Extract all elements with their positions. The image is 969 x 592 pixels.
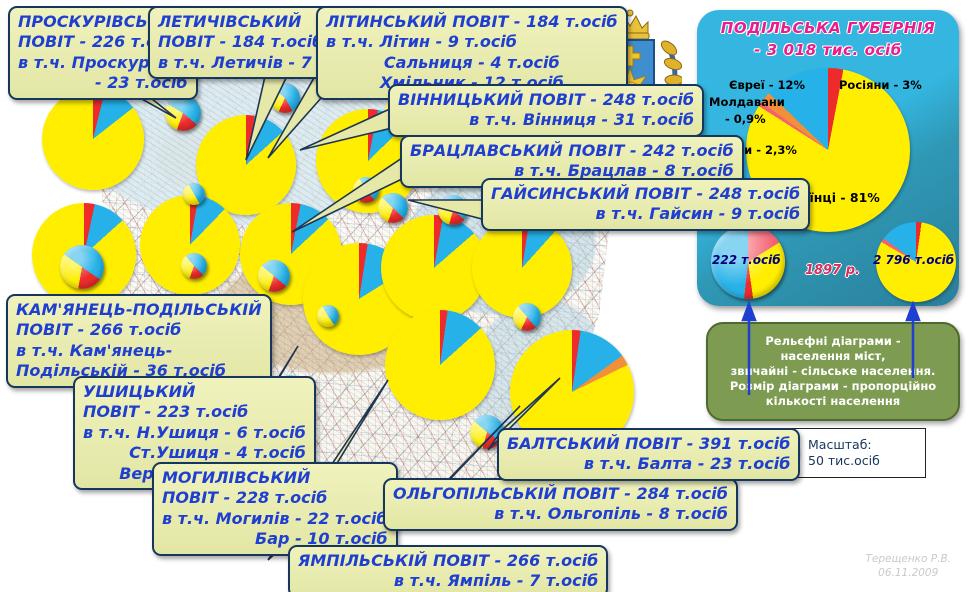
- town-pie-kamianets: [60, 245, 104, 289]
- label-moldovans-line2: - 0,9%: [725, 112, 766, 126]
- callout-line: ОЛЬГОПІЛЬСЬКІЙ ПОВІТ - 284 т.осіб: [393, 484, 728, 504]
- town-pie-proskuriv: [165, 95, 201, 131]
- label-russians: Росіяни - 3%: [839, 78, 922, 92]
- town-pie-ushytsia-lower: [181, 253, 207, 279]
- callout-haisyn[interactable]: ГАЙСИНСЬКИЙ ПОВІТ - 248 т.осіб в т.ч. Га…: [481, 178, 810, 231]
- callout-yampil[interactable]: ЯМПІЛЬСЬКІЙ ПОВІТ - 266 т.осіб в т.ч. Ям…: [288, 545, 608, 592]
- callout-line: в т.ч. Вінниця - 31 т.осіб: [398, 110, 694, 130]
- scale-line-2: 50 тис.осіб: [808, 453, 880, 469]
- callout-mohyliv[interactable]: МОГИЛІВСЬКИЙ ПОВІТ - 228 т.осіб в т.ч. М…: [152, 462, 398, 556]
- county-pie-olhopil-rural: [385, 310, 495, 420]
- town-pie-haisyn: [438, 195, 468, 225]
- callout-line: ВІННИЦЬКИЙ ПОВІТ - 248 т.осіб: [398, 90, 694, 110]
- legend-note-text: Рельєфні діаграми - населення міст, звич…: [730, 334, 936, 410]
- label-jews: Євреї - 12%: [729, 78, 805, 92]
- callout-line: ПОВІТ - 223 т.осіб: [83, 402, 306, 422]
- callout-line: в т.ч. Ямпіль - 7 т.осіб: [298, 571, 598, 591]
- note-line: населення міст,: [730, 349, 936, 364]
- legend-note-box: Рельєфні діаграми - населення міст, звич…: [706, 322, 960, 421]
- callout-line: в т.ч. Могилів - 22 т.осіб: [162, 509, 388, 529]
- year-label: 1897 р.: [805, 263, 860, 278]
- callout-line: МОГИЛІВСЬКИЙ: [162, 468, 388, 488]
- urban-population-label: 222 т.осіб: [712, 253, 781, 267]
- author-date: 06.11.2009: [865, 566, 951, 580]
- callout-line: в т.ч. Ольгопіль - 8 т.осіб: [393, 504, 728, 524]
- note-line: кількості населення: [730, 394, 936, 409]
- callout-line: БРАЦЛАВСЬКИЙ ПОВІТ - 242 т.осіб: [410, 141, 734, 161]
- panel-title: ПОДІЛЬСЬКА ГУБЕРНІЯ - 3 018 тис. осіб: [697, 18, 959, 62]
- callout-line: Сальниця - 4 т.осіб: [326, 53, 618, 73]
- callout-line: Ст.Ушиця - 4 т.осіб: [83, 443, 306, 463]
- town-pie-bar: [317, 305, 339, 327]
- callout-line: в т.ч. Літин - 9 т.осіб: [326, 32, 618, 52]
- callout-line: ПОВІТ - 266 т.осіб: [16, 320, 262, 340]
- callout-line: в т.ч. Балта - 23 т.осіб: [507, 454, 790, 474]
- town-pie-mohyliv: [258, 260, 290, 292]
- callout-line: в т.ч. Гайсин - 9 т.осіб: [491, 204, 800, 224]
- scale-legend-text: Масштаб: 50 тис.осіб: [808, 437, 880, 468]
- town-pie-bratslav: [378, 193, 408, 223]
- callout-line: ПОВІТ - 228 т.осіб: [162, 488, 388, 508]
- callout-olhopil[interactable]: ОЛЬГОПІЛЬСЬКІЙ ПОВІТ - 284 т.осіб в т.ч.…: [383, 478, 738, 531]
- arrow-up-urban: [743, 304, 755, 320]
- callout-line: БАЛТСЬКИЙ ПОВІТ - 391 т.осіб: [507, 434, 790, 454]
- town-pie-lityn: [353, 177, 379, 203]
- callout-kamianets[interactable]: КАМ'ЯНЕЦЬ-ПОДІЛЬСЬКІЙ ПОВІТ - 266 т.осіб…: [6, 294, 272, 388]
- callout-balta[interactable]: БАЛТСЬКИЙ ПОВІТ - 391 т.осіб в т.ч. Балт…: [497, 428, 800, 481]
- town-pie-ushytsia: [183, 183, 205, 205]
- note-line: Рельєфні діаграми -: [730, 334, 936, 349]
- note-line: Розмір діаграми - пропорційно: [730, 379, 936, 394]
- panel-title-line1: ПОДІЛЬСЬКА ГУБЕРНІЯ: [697, 18, 959, 40]
- scale-line-1: Масштаб:: [808, 437, 880, 453]
- infographic-canvas: ПРОСКУРІВСЬКИЙ ПОВІТ - 226 т.осіб в т.ч.…: [0, 0, 969, 592]
- callout-line: ЯМПІЛЬСЬКІЙ ПОВІТ - 266 т.осіб: [298, 551, 598, 571]
- county-pie-ushytsia-rural: [140, 195, 240, 295]
- town-pie-letychiv: [270, 83, 300, 113]
- callout-line: ГАЙСИНСЬКИЙ ПОВІТ - 248 т.осіб: [491, 184, 800, 204]
- callout-line: КАМ'ЯНЕЦЬ-ПОДІЛЬСЬКІЙ: [16, 300, 262, 320]
- callout-line: УШИЦЬКИЙ: [83, 382, 306, 402]
- callout-line: ЛІТИНСЬКИЙ ПОВІТ - 184 т.осіб: [326, 12, 618, 32]
- author-signature: Терещенко Р.В. 06.11.2009: [865, 552, 951, 580]
- county-pie-proskuriv-rural: [42, 88, 144, 190]
- panel-title-line2: - 3 018 тис. осіб: [697, 40, 959, 62]
- callout-vinnytsia[interactable]: ВІННИЦЬКИЙ ПОВІТ - 248 т.осіб в т.ч. Він…: [388, 84, 704, 137]
- note-line: звичайні - сільське населення.: [730, 364, 936, 379]
- callout-line: в т.ч. Кам'янець-: [16, 341, 262, 361]
- callout-line: в т.ч. Н.Ушиця - 6 т.осіб: [83, 423, 306, 443]
- rural-population-label: 2 796 т.осіб: [873, 253, 954, 267]
- label-moldovans-line1: Молдавани: [709, 95, 785, 109]
- town-pie-olhopil: [513, 303, 541, 331]
- author-name: Терещенко Р.В.: [865, 552, 951, 566]
- arrow-up-rural: [907, 304, 919, 320]
